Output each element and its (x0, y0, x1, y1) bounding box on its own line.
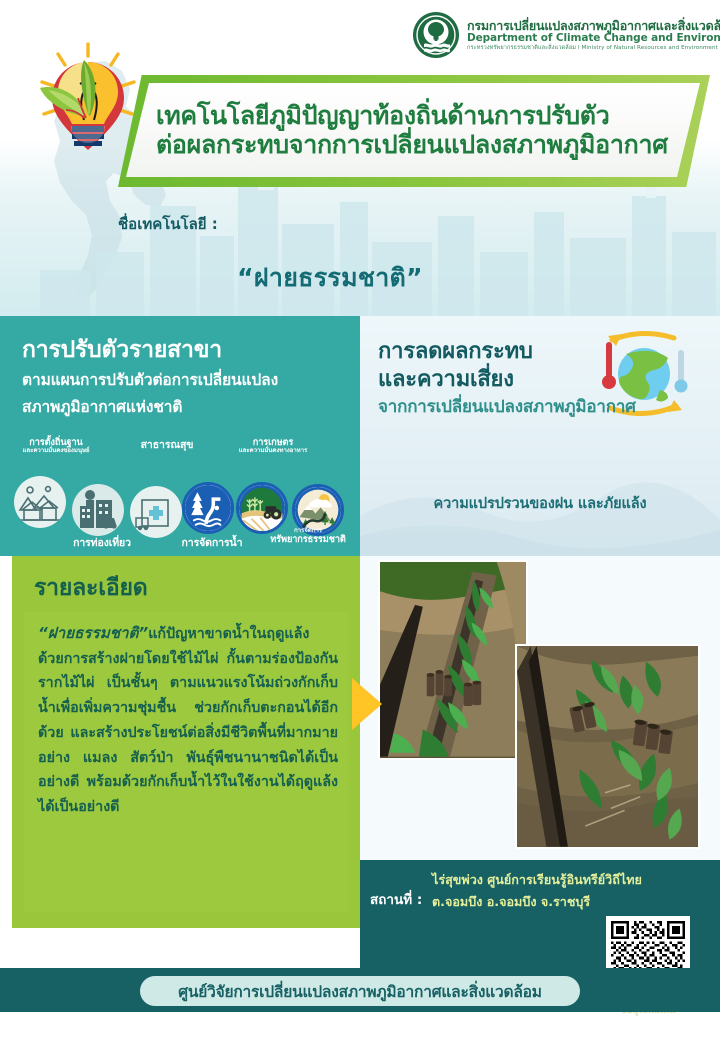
hospital-icon (130, 486, 182, 538)
mitigation-heading-line2: และความเสี่ยง (378, 366, 704, 394)
farm-tractor-icon (239, 485, 285, 531)
mitigation-heading-line1: การลดผลกระทบ (378, 338, 704, 366)
footer-text: ศูนย์วิจัยการเปลี่ยนแปลงสภาพภูมิอากาศและ… (178, 979, 542, 1004)
title-banner-inner: เทคโนโลยีภูมิปัญญาท้องถิ่นด้านการปรับตัว… (126, 83, 700, 177)
details-body-text: แก้ปัญหาขาดน้ำในฤดูแล้ง ด้วยการสร้างฝายโ… (38, 626, 338, 815)
sector-caption-tourism: การท่องเที่ยว (58, 538, 146, 550)
sector-icon-agriculture[interactable] (236, 482, 288, 534)
mitigation-panel: การลดผลกระทบ และความเสี่ยง จากการเปลี่ยน… (360, 316, 720, 556)
adaptation-heading: การปรับตัวรายสาขา (22, 336, 346, 365)
village-house-icon (14, 476, 66, 528)
dcce-name-en: Department of Climate Change and Environ… (467, 33, 720, 45)
water-tap-river-icon (185, 485, 231, 531)
sector-icon-settlement[interactable] (14, 476, 66, 528)
technology-name-value: “ฝายธรรมชาติ” (0, 258, 660, 298)
sector-icon-water[interactable] (182, 482, 234, 534)
details-heading: รายละเอียด (34, 570, 147, 606)
technology-name-label: ชื่อเทคโนโลยี : (118, 212, 218, 236)
title-banner: เทคโนโลยีภูมิปัญญาท้องถิ่นด้านการปรับตัว… (118, 75, 710, 187)
details-inner-box: “ฝายธรรมชาติ”แก้ปัญหาขาดน้ำในฤดูแล้ง ด้ว… (24, 612, 348, 912)
adaptation-subheading-line1: ตามแผนการปรับตัวต่อการเปลี่ยนแปลง (22, 369, 346, 392)
poster-root: กรมการเปลี่ยนแปลงสภาพภูมิอากาศและสิ่งแวด… (0, 0, 720, 1040)
location-line2: ต.จอมบึง อ.จอมบึง จ.ราชบุรี (432, 892, 654, 912)
adaptation-panel: การปรับตัวรายสาขา ตามแผนการปรับตัวต่อการ… (0, 316, 360, 556)
arrow-right-icon (352, 678, 382, 730)
header-band: กรมการเปลี่ยนแปลงสภาพภูมิอากาศและสิ่งแวด… (0, 0, 720, 316)
photo-bamboo-weir-trench (378, 560, 528, 760)
details-body: “ฝายธรรมชาติ”แก้ปัญหาขาดน้ำในฤดูแล้ง ด้ว… (38, 620, 338, 820)
location-label: สถานที่ : (370, 888, 422, 910)
location-strip: สถานที่ : ไร่สุขพ่วง ศูนย์การเรียนรู้อิน… (360, 860, 720, 970)
sector-caption-settlement: การตั้งถิ่นฐาน และความมั่นคงของมนุษย์ (2, 438, 110, 455)
footer-pill: ศูนย์วิจัยการเปลี่ยนแปลงสภาพภูมิอากาศและ… (140, 976, 580, 1006)
city-tourism-icon (72, 484, 124, 536)
dcce-name-th: กรมการเปลี่ยนแปลงสภาพภูมิอากาศและสิ่งแวด… (467, 19, 720, 33)
adaptation-subheading-line2: สภาพภูมิอากาศแห่งชาติ (22, 396, 346, 419)
photo-b-content (517, 646, 698, 847)
dcce-logo: กรมการเปลี่ยนแปลงสภาพภูมิอากาศและสิ่งแวด… (412, 6, 712, 64)
details-panel: รายละเอียด “ฝายธรรมชาติ”แก้ปัญหาขาดน้ำใน… (12, 556, 360, 928)
mitigation-note: ความแปรปรวนของฝน และภัยแล้ง (360, 492, 720, 515)
dcce-seal-icon (412, 11, 460, 59)
photo-bamboo-weir-closeup (515, 644, 700, 849)
location-line1: ไร่สุขพ่วง ศูนย์การเรียนรู้อินทรีย์วิถีไ… (432, 870, 654, 890)
sector-caption-water: การจัดการน้ำ (168, 538, 256, 550)
mitigation-subheading: จากการเปลี่ยนแปลงสภาพภูมิอากาศ (378, 396, 704, 419)
sector-icon-tourism[interactable] (72, 484, 124, 536)
sector-icon-health[interactable] (130, 486, 182, 538)
sector-caption-natural-resources: การจัดการ ทรัพยากรธรรมชาติ (258, 528, 358, 545)
sector-caption-health: สาธารณสุข (124, 440, 210, 452)
dcce-logo-text: กรมการเปลี่ยนแปลงสภาพภูมิอากาศและสิ่งแวด… (467, 19, 720, 51)
details-lead: “ฝายธรรมชาติ” (38, 624, 148, 642)
dcce-ministry-line: กระทรวงทรัพยากรธรรมชาติและสิ่งแวดล้อม l … (467, 45, 720, 51)
sector-icon-row: การตั้งถิ่นฐาน และความมั่นคงของมนุษย์ สา… (0, 438, 360, 556)
photo-a-content (380, 562, 526, 757)
page-title-line1: เทคโนโลยีภูมิปัญญาท้องถิ่นด้านการปรับตัว (156, 101, 700, 131)
sector-caption-agriculture: การเกษตร และความมั่นคงทางอาหาร (218, 438, 328, 455)
page-title-line2: ต่อผลกระทบจากการเปลี่ยนแปลงสภาพภูมิอากาศ (156, 130, 700, 160)
photo-zone (360, 556, 720, 860)
